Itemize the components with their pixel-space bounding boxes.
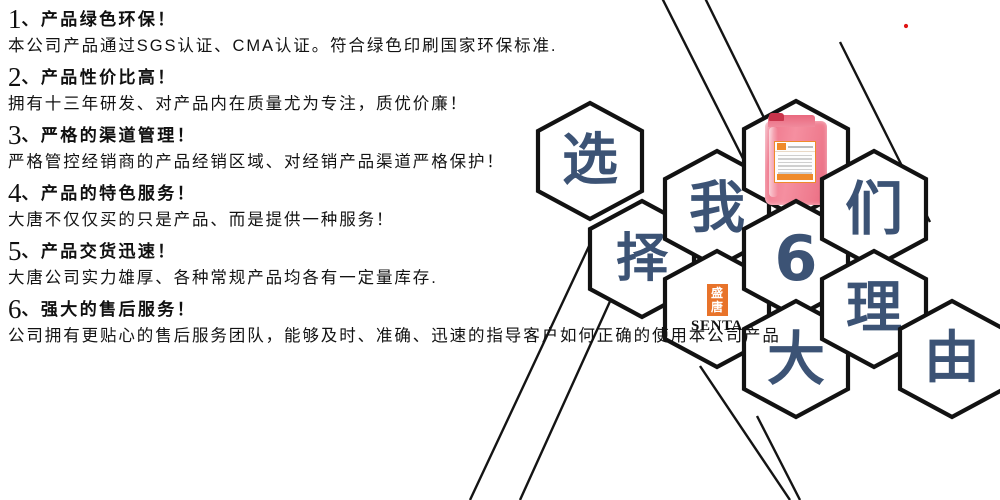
hex-char-you: 由: [898, 299, 1000, 419]
feature-heading-2: 2、产品性价比高！: [8, 64, 648, 92]
label-footer-bar: [777, 174, 813, 180]
feature-number-6: 6: [8, 294, 22, 324]
decor-line-7: [757, 416, 800, 500]
brand-stamp-char-1: 盛: [711, 286, 723, 300]
feature-list: 1、产品绿色环保！ 本公司产品通过SGS认证、CMA认证。符合绿色印刷国家环保标…: [8, 6, 648, 354]
feature-title-6: 强大的售后服务！: [41, 300, 196, 319]
feature-heading-3: 3、严格的渠道管理！: [8, 122, 648, 150]
jerrycan-label: [774, 141, 816, 183]
feature-item-4: 4、产品的特色服务！ 大唐不仅仅买的只是产品、而是提供一种服务！: [8, 180, 648, 229]
feature-body-1: 本公司产品通过SGS认证、CMA认证。符合绿色印刷国家环保标准.: [8, 37, 648, 55]
feature-body-5: 大唐公司实力雄厚、各种常规产品均各有一定量库存.: [8, 269, 648, 287]
label-title-line: [788, 146, 813, 148]
feature-separator-6: 、: [22, 300, 41, 319]
feature-item-6: 6、强大的售后服务！ 公司拥有更贴心的售后服务团队，能够及时、准确、迅速的指导客…: [8, 296, 648, 345]
brand-stamp-char-2: 唐: [711, 300, 723, 314]
feature-item-2: 2、产品性价比高！ 拥有十三年研发、对产品内在质量尤为专注，质优价廉！: [8, 64, 648, 113]
feature-item-3: 3、严格的渠道管理！ 严格管控经销商的产品经销区域、对经销产品渠道严格保护！: [8, 122, 648, 171]
feature-title-3: 严格的渠道管理！: [41, 126, 196, 145]
feature-number-3: 3: [8, 120, 22, 150]
label-header: [775, 142, 815, 152]
feature-number-1: 1: [8, 4, 22, 34]
feature-heading-6: 6、强大的售后服务！: [8, 296, 648, 324]
feature-heading-5: 5、产品交货迅速！: [8, 238, 648, 266]
feature-body-2: 拥有十三年研发、对产品内在质量尤为专注，质优价廉！: [8, 95, 648, 113]
feature-title-4: 产品的特色服务！: [41, 184, 196, 203]
feature-title-5: 产品交货迅速！: [41, 242, 177, 261]
feature-separator-5: 、: [22, 242, 41, 261]
feature-body-4: 大唐不仅仅买的只是产品、而是提供一种服务！: [8, 211, 648, 229]
feature-separator-3: 、: [22, 126, 41, 145]
feature-title-1: 产品绿色环保！: [41, 10, 177, 29]
feature-body-6: 公司拥有更贴心的售后服务团队，能够及时、准确、迅速的指导客户如何正确的使用本公司…: [8, 327, 648, 345]
feature-heading-1: 1、产品绿色环保！: [8, 6, 648, 34]
feature-separator-1: 、: [22, 10, 41, 29]
feature-item-1: 1、产品绿色环保！ 本公司产品通过SGS认证、CMA认证。符合绿色印刷国家环保标…: [8, 6, 648, 55]
feature-number-5: 5: [8, 236, 22, 266]
feature-number-4: 4: [8, 178, 22, 208]
hex-cell-you: 由: [898, 299, 1000, 419]
decor-red-dot: [904, 24, 908, 28]
feature-title-2: 产品性价比高！: [41, 68, 177, 87]
feature-separator-2: 、: [22, 68, 41, 87]
feature-separator-4: 、: [22, 184, 41, 203]
feature-number-2: 2: [8, 62, 22, 92]
feature-heading-4: 4、产品的特色服务！: [8, 180, 648, 208]
brand-stamp-icon: 盛唐: [707, 284, 728, 316]
label-brand-mark: [777, 143, 786, 150]
feature-item-5: 5、产品交货迅速！ 大唐公司实力雄厚、各种常规产品均各有一定量库存.: [8, 238, 648, 287]
promo-banner: 1、产品绿色环保！ 本公司产品通过SGS认证、CMA认证。符合绿色印刷国家环保标…: [0, 0, 1000, 500]
feature-body-3: 严格管控经销商的产品经销区域、对经销产品渠道严格保护！: [8, 153, 648, 171]
jerrycan-cap: [769, 113, 784, 121]
